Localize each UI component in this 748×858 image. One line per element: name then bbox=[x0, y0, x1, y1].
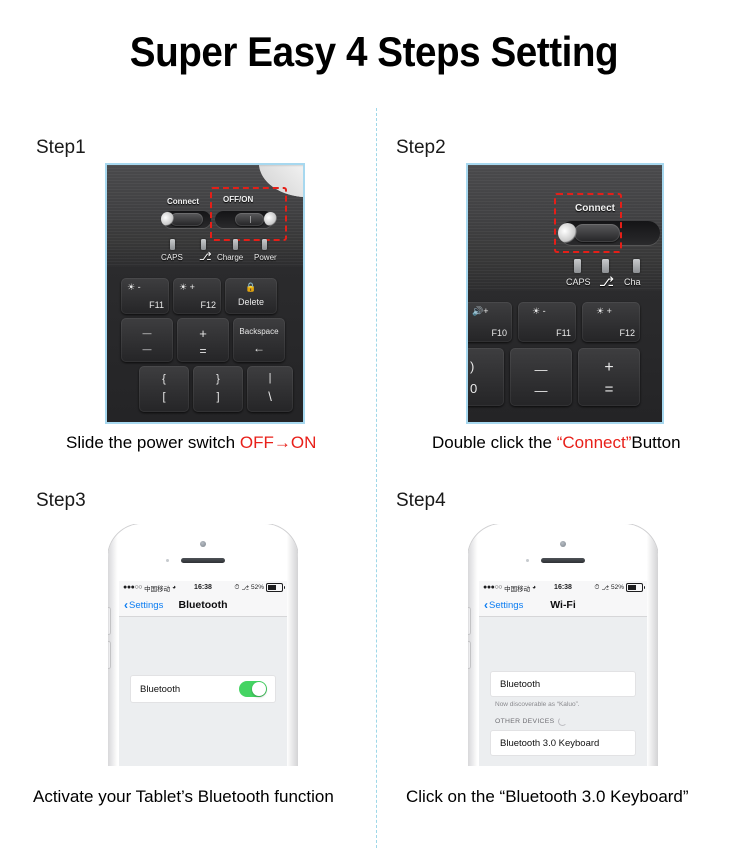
step-1-caption-highlight: OFF→ON bbox=[240, 433, 317, 452]
nav-bar: ‹ Settings Bluetooth bbox=[119, 594, 287, 617]
key-backspace[interactable]: Backspace ← bbox=[233, 318, 285, 362]
other-devices-label: OTHER DEVICES bbox=[495, 718, 554, 725]
key-plus-top: + bbox=[578, 360, 640, 376]
key-zero-label: 0 bbox=[470, 382, 477, 395]
status-bar: ●●●○○ 中国移动 ◕ 16:38 ⏱ ⎇ 52% bbox=[119, 581, 287, 594]
caps-led-label: CAPS bbox=[161, 253, 183, 262]
step-2-caption: Double click the “Connect”Button bbox=[432, 433, 681, 453]
power-switch-knob[interactable] bbox=[235, 213, 264, 226]
bluetooth-row[interactable]: Bluetooth bbox=[491, 672, 635, 696]
caps-led-label: CAPS bbox=[566, 277, 591, 287]
step-1-caption-prefix: Slide the power switch bbox=[66, 433, 240, 452]
key-plus-top: + bbox=[177, 327, 229, 340]
key-f12[interactable]: ☀ + F12 bbox=[173, 278, 221, 314]
key-backspace-label: Backspace bbox=[233, 328, 285, 336]
lock-icon: 🔒 bbox=[225, 283, 277, 292]
key-f11[interactable]: ☀ - F11 bbox=[518, 302, 576, 342]
step-2-caption-highlight: “Connect” bbox=[557, 433, 632, 452]
step-1-photo: Connect OFF/ON CAPS ⎇ Charge Power bbox=[105, 163, 305, 424]
key-backslash[interactable]: | \ bbox=[247, 366, 293, 412]
discoverable-note: Now discoverable as “Kaluo”. bbox=[495, 701, 580, 708]
key-f11[interactable]: ☀ - F11 bbox=[121, 278, 169, 314]
key-f11-label: F11 bbox=[149, 301, 164, 310]
status-bar: ●●●○○ 中国移动 ◕ 16:38 ⏱ ⎇ 52% bbox=[479, 581, 647, 594]
key-minus[interactable]: — — bbox=[510, 348, 572, 406]
front-camera-icon bbox=[560, 541, 566, 547]
battery-percent-label: 52% bbox=[611, 584, 624, 591]
key-f12[interactable]: ☀ + F12 bbox=[582, 302, 640, 342]
charge-led bbox=[233, 239, 238, 250]
status-bar-right: ⏱ ⎇ 52% bbox=[234, 583, 283, 592]
battery-icon bbox=[626, 583, 643, 592]
earpiece-speaker bbox=[541, 558, 585, 563]
key-f10[interactable]: 🔊+ F10 bbox=[468, 302, 512, 342]
key-bracket-left[interactable]: { [ bbox=[139, 366, 189, 412]
proximity-sensor-icon bbox=[526, 559, 529, 562]
proximity-sensor-icon bbox=[166, 559, 169, 562]
key-bracket-right[interactable]: } ] bbox=[193, 366, 243, 412]
status-bar-right: ⏱ ⎇ 52% bbox=[594, 583, 643, 592]
key-minus-top: — bbox=[121, 329, 173, 338]
volume-down-button[interactable] bbox=[468, 642, 470, 668]
key-f11-glyph: ☀ - bbox=[127, 283, 141, 292]
step-1-label: Step1 bbox=[36, 137, 86, 159]
keyboard-image-zoom: Connect CAPS ⎇ Cha 🔊+ F10 ☀ - F bbox=[468, 165, 662, 422]
step-2-label: Step2 bbox=[396, 137, 446, 159]
key-f12-label: F12 bbox=[200, 301, 216, 310]
key-f12-glyph: ☀ + bbox=[179, 283, 195, 292]
key-brace-left: { bbox=[139, 374, 189, 385]
keyboard-device-label: Bluetooth 3.0 Keyboard bbox=[500, 738, 599, 749]
key-plus-bottom: = bbox=[177, 345, 229, 357]
bluetooth-toggle-row[interactable]: Bluetooth bbox=[131, 676, 275, 702]
instruction-sheet: Super Easy 4 Steps Setting Step1 Connect… bbox=[0, 0, 748, 858]
charge-led-label: Cha bbox=[624, 277, 641, 287]
volume-button[interactable] bbox=[468, 608, 470, 634]
other-devices-header: OTHER DEVICES bbox=[495, 717, 567, 726]
phone-screen: ●●●○○ 中国移动 ◕ 16:38 ⏱ ⎇ 52% ‹ S bbox=[479, 581, 647, 766]
step-2-caption-suffix: Button bbox=[631, 433, 680, 452]
connect-switch-knob[interactable] bbox=[170, 213, 203, 226]
key-delete[interactable]: 🔒 Delete bbox=[225, 278, 277, 314]
key-plus[interactable]: + = bbox=[177, 318, 229, 362]
step-3-phone: ●●●○○ 中国移动 ◕ 16:38 ⏱ ⎇ 52% ‹ S bbox=[108, 524, 298, 766]
volume-down-button[interactable] bbox=[108, 642, 110, 668]
key-minus-top: — bbox=[510, 363, 572, 376]
nav-title: Bluetooth bbox=[119, 599, 287, 611]
vertical-divider bbox=[376, 108, 377, 848]
key-f12-label: F12 bbox=[619, 329, 635, 338]
step-3-label: Step3 bbox=[36, 490, 86, 512]
bluetooth-icon: ⎇ bbox=[599, 275, 614, 288]
key-minus-bottom: — bbox=[510, 384, 572, 397]
volume-up-icon: 🔊+ bbox=[472, 307, 488, 316]
alarm-icon: ⏱ bbox=[594, 584, 599, 592]
power-led-label: Power bbox=[254, 253, 277, 262]
page-title: Super Easy 4 Steps Setting bbox=[30, 28, 718, 76]
connect-switch-label: Connect bbox=[575, 203, 615, 214]
loading-spinner-icon bbox=[558, 717, 567, 726]
caps-led bbox=[574, 259, 581, 273]
step-3-caption-prefix: Activate your Tablet’s Bluetooth functio… bbox=[33, 787, 334, 806]
key-brace-right: } bbox=[193, 374, 243, 385]
charge-led-label: Charge bbox=[217, 253, 243, 262]
connect-switch-knob[interactable] bbox=[574, 224, 620, 242]
step-4-label: Step4 bbox=[396, 490, 446, 512]
key-zero[interactable]: ) 0 bbox=[468, 348, 504, 406]
alarm-icon: ⏱ bbox=[234, 584, 239, 592]
step-1-caption: Slide the power switch OFF→ON bbox=[66, 433, 316, 453]
key-plus[interactable]: + = bbox=[578, 348, 640, 406]
phone-screen: ●●●○○ 中国移动 ◕ 16:38 ⏱ ⎇ 52% ‹ S bbox=[119, 581, 287, 766]
nav-bar: ‹ Settings Wi-Fi bbox=[479, 594, 647, 617]
offon-switch-label: OFF/ON bbox=[223, 195, 253, 204]
bluetooth-led bbox=[602, 259, 609, 273]
connect-switch-label: Connect bbox=[167, 197, 199, 206]
step-4-caption-prefix: Click on the “Bluetooth 3.0 Keyboard” bbox=[406, 787, 689, 806]
charge-led bbox=[633, 259, 640, 273]
keyboard-device-row[interactable]: Bluetooth 3.0 Keyboard bbox=[491, 731, 635, 755]
step-2-caption-prefix: Double click the bbox=[432, 433, 557, 452]
key-bracket-right-label: ] bbox=[193, 392, 243, 403]
key-minus-bottom: — bbox=[121, 345, 173, 354]
key-pipe: | bbox=[247, 373, 293, 384]
battery-icon bbox=[266, 583, 283, 592]
power-led bbox=[262, 239, 267, 250]
key-minus[interactable]: — — bbox=[121, 318, 173, 362]
step-4-phone: ●●●○○ 中国移动 ◕ 16:38 ⏱ ⎇ 52% ‹ S bbox=[468, 524, 658, 766]
step-3-caption: Activate your Tablet’s Bluetooth functio… bbox=[33, 787, 334, 807]
battery-percent-label: 52% bbox=[251, 584, 264, 591]
backspace-arrow-icon: ← bbox=[233, 342, 285, 354]
step-4-caption: Click on the “Bluetooth 3.0 Keyboard” bbox=[406, 787, 689, 807]
bluetooth-row-label: Bluetooth bbox=[500, 679, 540, 690]
connect-switch-gloss bbox=[161, 212, 174, 226]
connect-switch-gloss bbox=[558, 223, 577, 243]
key-paren-right: ) bbox=[470, 360, 474, 373]
step-2-photo: Connect CAPS ⎇ Cha 🔊+ F10 ☀ - F bbox=[466, 163, 664, 424]
bluetooth-icon: ⎇ bbox=[199, 252, 212, 263]
caps-led bbox=[170, 239, 175, 250]
bluetooth-toggle[interactable] bbox=[239, 681, 267, 697]
key-plus-bottom: = bbox=[578, 382, 640, 397]
power-switch-gloss bbox=[264, 212, 277, 226]
bluetooth-row-label: Bluetooth bbox=[140, 684, 180, 695]
key-f10-label: F10 bbox=[491, 329, 507, 338]
volume-button[interactable] bbox=[108, 608, 110, 634]
nav-title: Wi-Fi bbox=[479, 599, 647, 611]
earpiece-speaker bbox=[181, 558, 225, 563]
key-bracket-left-label: [ bbox=[139, 392, 189, 403]
bluetooth-led bbox=[201, 239, 206, 250]
key-f11-label: F11 bbox=[556, 329, 571, 338]
bluetooth-icon: ⎇ bbox=[601, 584, 609, 592]
keyboard-image: Connect OFF/ON CAPS ⎇ Charge Power bbox=[107, 165, 303, 422]
brightness-up-icon: ☀ + bbox=[596, 307, 612, 316]
brightness-down-icon: ☀ - bbox=[532, 307, 546, 316]
key-backslash-label: \ bbox=[247, 390, 293, 403]
bluetooth-icon: ⎇ bbox=[241, 584, 249, 592]
front-camera-icon bbox=[200, 541, 206, 547]
key-delete-label: Delete bbox=[225, 298, 277, 307]
